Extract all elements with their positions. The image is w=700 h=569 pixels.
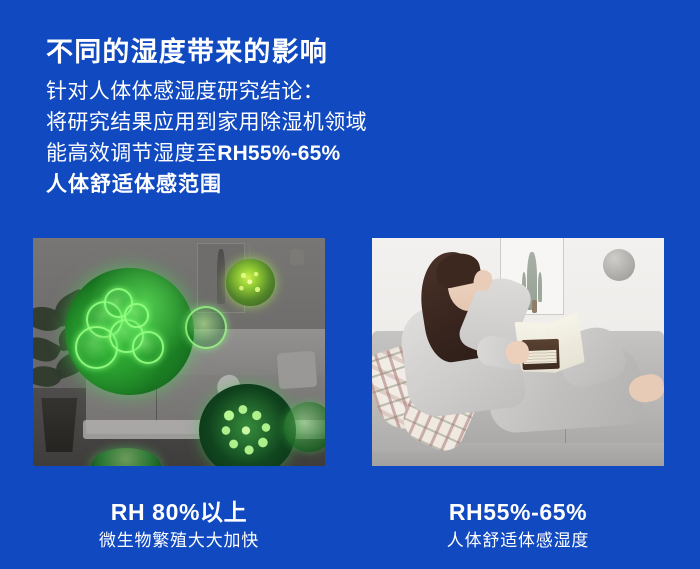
sofa-cushion (277, 351, 317, 390)
humidity-infographic: 不同的湿度带来的影响 针对人体体感湿度研究结论： 将研究结果应用到家用除湿机领域… (0, 0, 700, 569)
intro-line-3-prefix: 能高效调节湿度至 (46, 142, 217, 165)
intro-line-3: 能高效调节湿度至RH55%-65% (46, 138, 506, 169)
wall-knob (290, 249, 304, 265)
intro-paragraph: 针对人体体感湿度研究结论： 将研究结果应用到家用除湿机领域 能高效调节湿度至RH… (46, 76, 506, 200)
photo-woman-reading-on-sofa (372, 238, 664, 466)
cactus-stem (532, 300, 538, 312)
intro-line-4: 人体舒适体感范围 (46, 169, 506, 200)
wall-disc-decor (603, 249, 635, 281)
intro-line-2: 将研究结果应用到家用除湿机领域 (46, 107, 506, 138)
panel-high-humidity (33, 238, 325, 466)
caption-subtitle-left: 微生物繁殖大大加快 (33, 529, 325, 553)
intro-line-1: 针对人体体感湿度研究结论： (46, 76, 506, 107)
humidity-range-highlight: RH55%-65% (217, 142, 340, 165)
caption-high-humidity: RH 80%以上 微生物繁殖大大加快 (33, 498, 325, 553)
caption-title-right: RH55%-65% (372, 498, 664, 526)
caption-title-left: RH 80%以上 (33, 498, 325, 526)
caption-comfort-humidity: RH55%-65% 人体舒适体感湿度 (372, 498, 664, 553)
microbe-sphere-large-icon (65, 268, 193, 396)
microbe-sphere-edge-icon (185, 306, 227, 349)
photo-dark-room-with-microbes (33, 238, 325, 466)
caption-subtitle-right: 人体舒适体感湿度 (372, 529, 664, 553)
microbe-sphere-lower-icon (199, 384, 295, 466)
panel-comfort-humidity (372, 238, 664, 466)
page-title: 不同的湿度带来的影响 (46, 35, 328, 69)
